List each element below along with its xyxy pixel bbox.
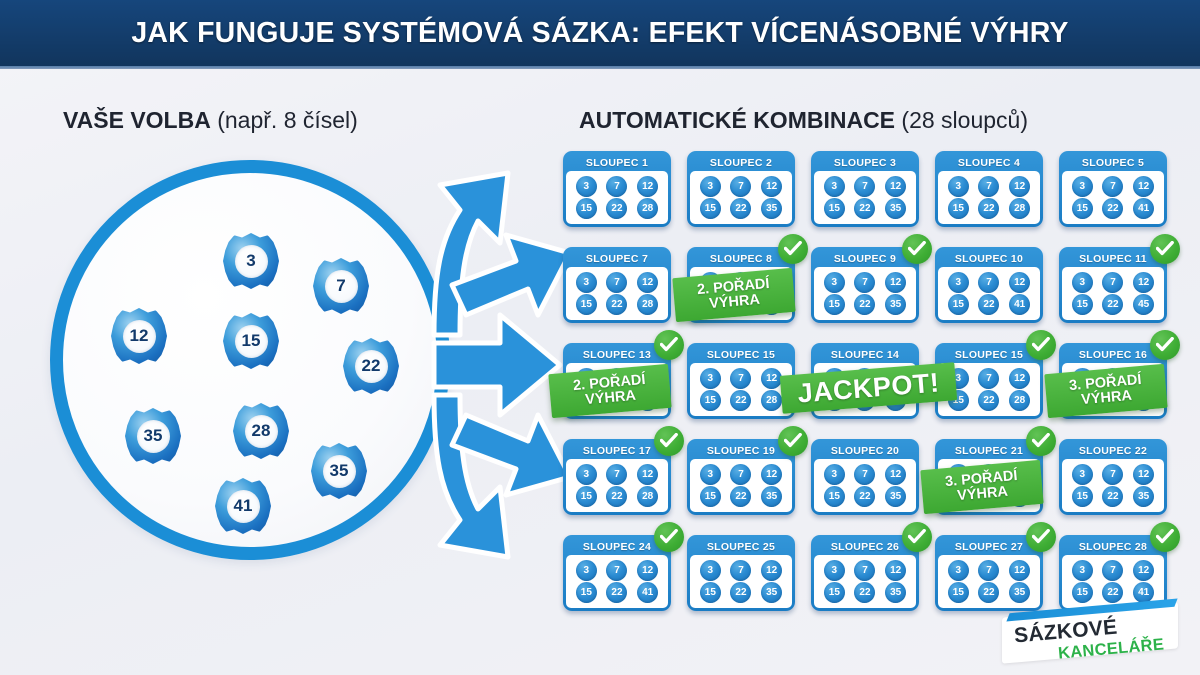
number-ball: 41 [1009, 294, 1030, 315]
infographic-page: JAK FUNGUJE SYSTÉMOVÁ SÁZKA: EFEKT VÍCEN… [0, 0, 1200, 675]
number-ball: 12 [1009, 176, 1030, 197]
number-row: 152235 [819, 198, 911, 219]
right-section-heading: AUTOMATICKÉ KOMBINACE (28 sloupců) [579, 107, 1028, 134]
number-row: 152228 [571, 486, 663, 507]
left-section-heading: VAŠE VOLBA (např. 8 čísel) [63, 107, 358, 134]
check-icon [1026, 522, 1056, 552]
page-title: JAK FUNGUJE SYSTÉMOVÁ SÁZKA: EFEKT VÍCEN… [131, 17, 1068, 50]
number-ball: 15 [700, 486, 721, 507]
card-numbers: 3712152228 [690, 363, 792, 416]
combination-card[interactable]: SLOUPEC 243712152241 [563, 535, 671, 611]
ball-number: 41 [227, 490, 260, 523]
number-ball: 3 [576, 272, 597, 293]
number-ball: 22 [854, 486, 875, 507]
card-title: SLOUPEC 19 [690, 442, 792, 459]
card-title: SLOUPEC 8 [690, 250, 792, 267]
number-ball: 3 [700, 368, 721, 389]
card-numbers: 3712152235 [814, 171, 916, 224]
number-ball: 15 [824, 582, 845, 603]
card-numbers: 3712152235 [814, 555, 916, 608]
card-title: SLOUPEC 25 [690, 538, 792, 555]
number-ball: 7 [606, 272, 627, 293]
number-ball: 3 [824, 464, 845, 485]
number-ball: 7 [730, 368, 751, 389]
number-ball: 12 [761, 560, 782, 581]
number-ball: 12 [885, 464, 906, 485]
combination-card[interactable]: SLOUPEC 13712152228 [563, 151, 671, 227]
combination-card[interactable]: SLOUPEC 93712152235 [811, 247, 919, 323]
number-ball: 3 [1072, 272, 1093, 293]
card-title: SLOUPEC 22 [1062, 442, 1164, 459]
number-ball: 15 [700, 198, 721, 219]
card-numbers: 3712152235 [1062, 459, 1164, 512]
number-ball: 12 [885, 560, 906, 581]
card-title: SLOUPEC 1 [566, 154, 668, 171]
number-row: 152235 [943, 582, 1035, 603]
card-title: SLOUPEC 2 [690, 154, 792, 171]
number-row: 152241 [943, 294, 1035, 315]
combination-card[interactable]: SLOUPEC 73712152228 [563, 247, 671, 323]
ball-number: 7 [325, 270, 358, 303]
card-numbers: 3712152228 [938, 171, 1040, 224]
number-ball: 28 [637, 198, 658, 219]
number-row: 152245 [1067, 294, 1159, 315]
number-ball: 28 [1009, 390, 1030, 411]
ball-number: 15 [235, 325, 268, 358]
arrows-group [430, 165, 580, 565]
number-ball: 41 [637, 582, 658, 603]
combination-card[interactable]: SLOUPEC 33712152235 [811, 151, 919, 227]
combination-card[interactable]: SLOUPEC 53712152241 [1059, 151, 1167, 227]
number-ball: 22 [978, 390, 999, 411]
combination-card[interactable]: SLOUPEC 23712152235 [687, 151, 795, 227]
number-ball: 15 [1072, 198, 1093, 219]
number-ball: 22 [854, 294, 875, 315]
check-icon [778, 426, 808, 456]
number-ball: 15 [1072, 582, 1093, 603]
number-ball: 12 [1133, 560, 1154, 581]
number-ball: 35 [1009, 582, 1030, 603]
number-ball: 7 [978, 560, 999, 581]
combination-card[interactable]: SLOUPEC 153712152228 [687, 343, 795, 419]
card-title: SLOUPEC 16 [1062, 346, 1164, 363]
number-row: 3712 [819, 464, 911, 485]
number-ball: 22 [606, 486, 627, 507]
combination-card[interactable]: SLOUPEC 253712152235 [687, 535, 795, 611]
number-ball: 3 [700, 176, 721, 197]
card-numbers: 3712152228 [566, 267, 668, 320]
number-ball: 3 [700, 464, 721, 485]
number-ball: 15 [700, 582, 721, 603]
combination-card[interactable]: SLOUPEC 43712152228 [935, 151, 1043, 227]
card-numbers: 3712152241 [1062, 171, 1164, 224]
combination-card[interactable]: SLOUPEC 263712152235 [811, 535, 919, 611]
number-row: 3712 [1067, 272, 1159, 293]
card-numbers: 3712152235 [690, 555, 792, 608]
number-ball: 35 [885, 294, 906, 315]
brand-logo: SÁZKOVÉ KANCELÁŘE [1000, 612, 1180, 664]
card-title: SLOUPEC 7 [566, 250, 668, 267]
number-ball: 28 [637, 486, 658, 507]
card-numbers: 3712152235 [814, 459, 916, 512]
number-ball: 7 [1102, 176, 1123, 197]
card-title: SLOUPEC 3 [814, 154, 916, 171]
number-ball: 3 [576, 560, 597, 581]
card-title: SLOUPEC 26 [814, 538, 916, 555]
header-bar: JAK FUNGUJE SYSTÉMOVÁ SÁZKA: EFEKT VÍCEN… [0, 0, 1200, 66]
number-row: 3712 [695, 560, 787, 581]
number-ball: 7 [978, 272, 999, 293]
number-ball: 15 [576, 294, 597, 315]
number-row: 152235 [1067, 486, 1159, 507]
combination-card[interactable]: SLOUPEC 103712152241 [935, 247, 1043, 323]
ball-number: 3 [235, 245, 268, 278]
card-numbers: 3712152241 [938, 267, 1040, 320]
number-ball: 15 [576, 582, 597, 603]
lottery-ball: 35 [125, 408, 181, 464]
number-ball: 15 [948, 198, 969, 219]
card-title: SLOUPEC 24 [566, 538, 668, 555]
number-row: 3712 [571, 176, 663, 197]
number-ball: 35 [1133, 486, 1154, 507]
card-title: SLOUPEC 9 [814, 250, 916, 267]
number-ball: 3 [700, 560, 721, 581]
ball-number: 35 [137, 420, 170, 453]
number-ball: 12 [1009, 272, 1030, 293]
check-icon [902, 522, 932, 552]
number-row: 3712 [695, 368, 787, 389]
card-numbers: 3712152235 [690, 459, 792, 512]
number-ball: 22 [854, 582, 875, 603]
number-ball: 3 [576, 176, 597, 197]
number-row: 3712 [943, 560, 1035, 581]
check-icon [1150, 522, 1180, 552]
card-title: SLOUPEC 14 [814, 346, 916, 363]
number-row: 152235 [695, 582, 787, 603]
number-ball: 12 [637, 464, 658, 485]
number-row: 152228 [571, 198, 663, 219]
number-row: 3712 [819, 176, 911, 197]
number-ball: 35 [885, 582, 906, 603]
number-ball: 15 [1072, 486, 1093, 507]
check-icon [1150, 234, 1180, 264]
card-numbers: 3712152235 [938, 555, 1040, 608]
number-ball: 15 [576, 486, 597, 507]
header-divider [0, 66, 1200, 69]
number-row: 152241 [571, 582, 663, 603]
number-ball: 7 [606, 560, 627, 581]
number-ball: 3 [824, 560, 845, 581]
combination-card[interactable]: SLOUPEC 203712152235 [811, 439, 919, 515]
number-ball: 22 [1102, 486, 1123, 507]
number-ball: 12 [1133, 176, 1154, 197]
card-title: SLOUPEC 17 [566, 442, 668, 459]
number-ball: 3 [1072, 464, 1093, 485]
number-row: 3712 [695, 464, 787, 485]
number-ball: 15 [824, 486, 845, 507]
card-numbers: 3712152235 [814, 267, 916, 320]
number-row: 3712 [571, 560, 663, 581]
number-row: 3712 [819, 272, 911, 293]
number-row: 152228 [943, 198, 1035, 219]
number-ball: 15 [824, 294, 845, 315]
lottery-ball: 3 [223, 233, 279, 289]
number-ball: 22 [730, 390, 751, 411]
number-ball: 12 [1133, 272, 1154, 293]
number-row: 3712 [943, 368, 1035, 389]
number-row: 152241 [1067, 582, 1159, 603]
card-title: SLOUPEC 20 [814, 442, 916, 459]
number-ball: 7 [606, 176, 627, 197]
check-icon [1026, 426, 1056, 456]
card-numbers: 3712152245 [1062, 267, 1164, 320]
card-title: SLOUPEC 13 [566, 346, 668, 363]
number-ball: 12 [1133, 464, 1154, 485]
card-numbers: 3712152228 [566, 171, 668, 224]
number-ball: 12 [1009, 368, 1030, 389]
combination-card[interactable]: SLOUPEC 283712152241 [1059, 535, 1167, 611]
number-ball: 7 [854, 464, 875, 485]
number-row: 152235 [819, 486, 911, 507]
card-numbers: 3712152241 [566, 555, 668, 608]
card-title: SLOUPEC 15 [690, 346, 792, 363]
selection-circle: 3712152235283541 [50, 160, 450, 560]
left-heading-light: (např. 8 čísel) [211, 107, 358, 133]
ball-number: 28 [245, 415, 278, 448]
number-ball: 22 [730, 486, 751, 507]
number-ball: 3 [824, 272, 845, 293]
card-title: SLOUPEC 10 [938, 250, 1040, 267]
number-ball: 7 [1102, 464, 1123, 485]
number-ball: 22 [606, 294, 627, 315]
number-ball: 7 [854, 560, 875, 581]
lottery-ball: 28 [233, 403, 289, 459]
card-title: SLOUPEC 28 [1062, 538, 1164, 555]
card-numbers: 3712152228 [566, 459, 668, 512]
card-title: SLOUPEC 21 [938, 442, 1040, 459]
number-ball: 22 [1102, 294, 1123, 315]
number-row: 3712 [943, 272, 1035, 293]
number-ball: 22 [730, 198, 751, 219]
number-ball: 7 [730, 176, 751, 197]
number-row: 3712 [695, 176, 787, 197]
number-ball: 7 [730, 560, 751, 581]
check-icon [654, 522, 684, 552]
number-ball: 7 [854, 176, 875, 197]
combination-card[interactable]: SLOUPEC 173712152228 [563, 439, 671, 515]
number-ball: 45 [1133, 294, 1154, 315]
number-row: 152228 [695, 390, 787, 411]
number-ball: 7 [854, 272, 875, 293]
number-ball: 7 [1102, 560, 1123, 581]
number-ball: 15 [948, 294, 969, 315]
number-ball: 3 [1072, 560, 1093, 581]
lottery-ball: 12 [111, 308, 167, 364]
card-title: SLOUPEC 5 [1062, 154, 1164, 171]
number-ball: 12 [1009, 560, 1030, 581]
number-ball: 35 [761, 582, 782, 603]
number-ball: 12 [761, 176, 782, 197]
ball-number: 35 [323, 455, 356, 488]
number-ball: 3 [576, 464, 597, 485]
number-ball: 28 [761, 390, 782, 411]
card-title: SLOUPEC 27 [938, 538, 1040, 555]
number-ball: 35 [885, 198, 906, 219]
number-row: 3712 [819, 560, 911, 581]
card-numbers: 3712152235 [690, 171, 792, 224]
number-ball: 22 [606, 198, 627, 219]
number-row: 3712 [1067, 560, 1159, 581]
number-row: 152241 [1067, 198, 1159, 219]
number-ball: 22 [854, 198, 875, 219]
card-title: SLOUPEC 4 [938, 154, 1040, 171]
number-ball: 28 [1009, 198, 1030, 219]
number-ball: 15 [824, 198, 845, 219]
number-ball: 7 [730, 464, 751, 485]
ball-number: 12 [123, 320, 156, 353]
jackpot-badge: JACKPOT! [780, 362, 957, 414]
number-ball: 22 [978, 294, 999, 315]
number-ball: 28 [637, 294, 658, 315]
number-ball: 3 [948, 272, 969, 293]
number-ball: 41 [1133, 198, 1154, 219]
check-icon [1026, 330, 1056, 360]
number-ball: 35 [761, 198, 782, 219]
card-title: SLOUPEC 15 [938, 346, 1040, 363]
lottery-ball: 15 [223, 313, 279, 369]
card-title: SLOUPEC 11 [1062, 250, 1164, 267]
number-ball: 22 [978, 582, 999, 603]
number-ball: 7 [978, 368, 999, 389]
number-row: 152235 [695, 486, 787, 507]
number-ball: 22 [1102, 582, 1123, 603]
number-ball: 22 [978, 198, 999, 219]
number-ball: 3 [948, 560, 969, 581]
number-ball: 22 [606, 582, 627, 603]
lottery-ball: 41 [215, 478, 271, 534]
check-icon [1150, 330, 1180, 360]
number-row: 152235 [695, 198, 787, 219]
number-row: 3712 [1067, 176, 1159, 197]
number-ball: 7 [978, 176, 999, 197]
right-heading-light: (28 sloupců) [895, 107, 1028, 133]
number-row: 3712 [1067, 464, 1159, 485]
number-ball: 12 [885, 176, 906, 197]
number-ball: 15 [700, 390, 721, 411]
check-icon [902, 234, 932, 264]
number-row: 3712 [943, 176, 1035, 197]
number-ball: 15 [948, 582, 969, 603]
ball-number: 22 [355, 350, 388, 383]
combinations-grid: SLOUPEC 13712152228SLOUPEC 23712152235SL… [563, 151, 1175, 621]
fan-arrows-icon [430, 165, 580, 565]
number-ball: 3 [948, 176, 969, 197]
check-icon [654, 426, 684, 456]
number-ball: 12 [885, 272, 906, 293]
check-icon [654, 330, 684, 360]
right-heading-bold: AUTOMATICKÉ KOMBINACE [579, 107, 895, 133]
number-ball: 12 [637, 176, 658, 197]
number-ball: 35 [761, 486, 782, 507]
number-ball: 3 [1072, 176, 1093, 197]
number-row: 3712 [571, 272, 663, 293]
number-row: 152235 [819, 582, 911, 603]
number-ball: 12 [761, 464, 782, 485]
number-ball: 3 [824, 176, 845, 197]
number-ball: 15 [1072, 294, 1093, 315]
left-heading-bold: VAŠE VOLBA [63, 107, 211, 133]
combination-card[interactable]: SLOUPEC 113712152245 [1059, 247, 1167, 323]
number-ball: 35 [885, 486, 906, 507]
check-icon [778, 234, 808, 264]
number-ball: 7 [606, 464, 627, 485]
number-row: 3712 [571, 464, 663, 485]
combination-card[interactable]: SLOUPEC 193712152235 [687, 439, 795, 515]
lottery-ball: 7 [313, 258, 369, 314]
number-ball: 15 [576, 198, 597, 219]
lottery-ball: 22 [343, 338, 399, 394]
number-ball: 7 [1102, 272, 1123, 293]
lottery-ball: 35 [311, 443, 367, 499]
combination-card[interactable]: SLOUPEC 273712152235 [935, 535, 1043, 611]
number-row: 152228 [571, 294, 663, 315]
number-ball: 12 [637, 560, 658, 581]
number-ball: 22 [1102, 198, 1123, 219]
number-ball: 22 [730, 582, 751, 603]
number-row: 152235 [819, 294, 911, 315]
combination-card[interactable]: SLOUPEC 223712152235 [1059, 439, 1167, 515]
number-row: 152228 [943, 390, 1035, 411]
number-ball: 12 [637, 272, 658, 293]
